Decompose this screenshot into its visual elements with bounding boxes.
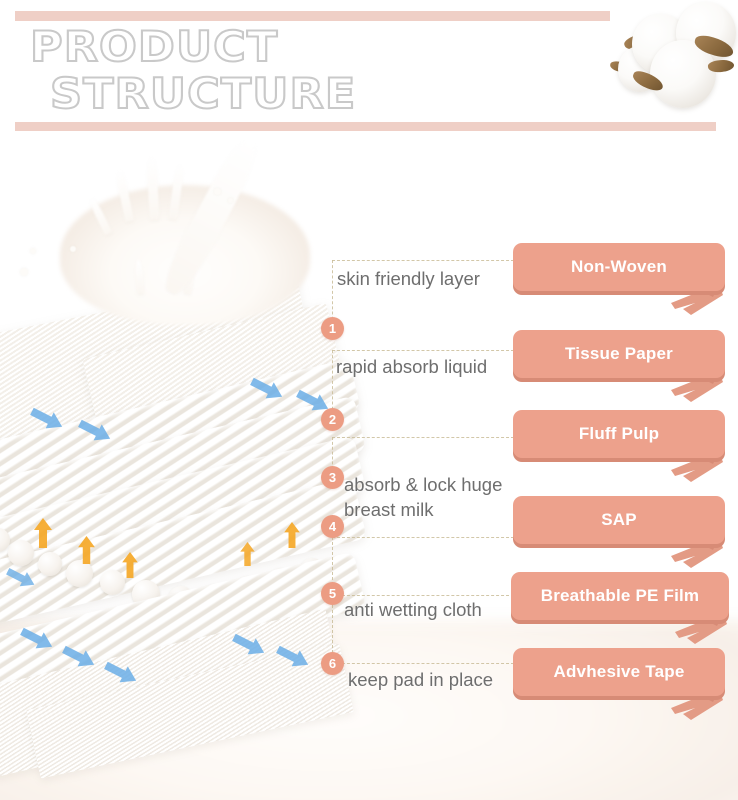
- material-badge-advhesive-tape[interactable]: Advhesive Tape: [513, 648, 725, 696]
- page-title-line-2: STRUCTURE: [50, 73, 356, 115]
- header-accent-bar-bottom: [15, 122, 716, 131]
- layer-marker-3[interactable]: 3: [321, 466, 344, 489]
- header-accent-bar-top: [15, 11, 638, 21]
- material-badge-label[interactable]: Tissue Paper: [513, 330, 725, 378]
- callout-guide-horizontal: [332, 595, 514, 596]
- material-badge-tissue-paper[interactable]: Tissue Paper: [513, 330, 725, 378]
- layer-marker-5[interactable]: 5: [321, 582, 344, 605]
- layer-description-2: rapid absorb liquid: [336, 355, 487, 379]
- layer-description-3: absorb & lock huge: [344, 473, 502, 497]
- layer-marker-4[interactable]: 4: [321, 515, 344, 538]
- layer-description-4: breast milk: [344, 498, 433, 522]
- callout-guide-horizontal: [332, 260, 514, 261]
- page-title-line-1: PRODUCT: [30, 26, 357, 68]
- callout-guide-horizontal: [332, 537, 514, 538]
- callout-guide-horizontal: [332, 350, 514, 351]
- layer-description-1: skin friendly layer: [337, 267, 480, 291]
- material-badge-fluff-pulp[interactable]: Fluff Pulp: [513, 410, 725, 458]
- product-structure-infographic: PRODUCT STRUCTURE 1 2 3 4 5 6: [0, 0, 738, 800]
- layer-marker-6[interactable]: 6: [321, 652, 344, 675]
- material-badge-breathable-pe-film[interactable]: Breathable PE Film: [511, 572, 729, 620]
- material-badge-label[interactable]: Advhesive Tape: [513, 648, 725, 696]
- callout-guide-horizontal: [332, 663, 514, 664]
- layer-description-5: anti wetting cloth: [344, 598, 482, 622]
- material-badge-sap[interactable]: SAP: [513, 496, 725, 544]
- material-badge-label[interactable]: Breathable PE Film: [511, 572, 729, 620]
- callout-guide-horizontal: [332, 437, 514, 438]
- material-badge-non-woven[interactable]: Non-Woven: [513, 243, 725, 291]
- material-badge-label[interactable]: Non-Woven: [513, 243, 725, 291]
- layer-description-6: keep pad in place: [348, 668, 493, 692]
- material-badge-label[interactable]: SAP: [513, 496, 725, 544]
- layer-marker-2[interactable]: 2: [321, 408, 344, 431]
- layer-marker-1[interactable]: 1: [321, 317, 344, 340]
- cotton-boll-image: [610, 0, 738, 118]
- material-badge-label[interactable]: Fluff Pulp: [513, 410, 725, 458]
- page-title: PRODUCT STRUCTURE: [30, 26, 339, 115]
